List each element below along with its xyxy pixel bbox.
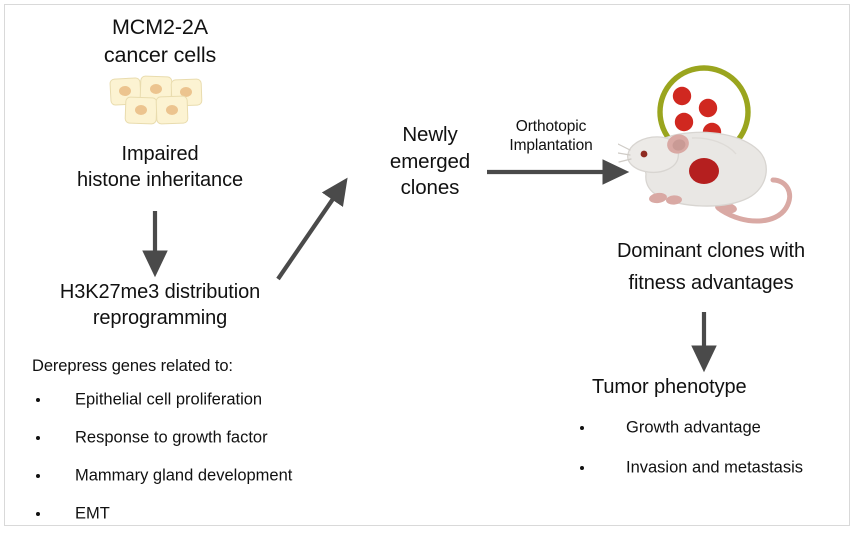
clone-dot xyxy=(675,113,693,131)
bullet-icon xyxy=(36,512,40,516)
figure-canvas: MCM2-2A cancer cells Impaired histone in… xyxy=(0,0,856,532)
derepressed-gene-list: Epithelial cell proliferation Response t… xyxy=(36,381,336,533)
list-item: Epithelial cell proliferation xyxy=(36,381,336,419)
laboratory-mouse-icon xyxy=(618,132,790,221)
clone-dot xyxy=(673,87,691,105)
page-title: MCM2-2A cancer cells xyxy=(30,14,290,69)
list-item: Mammary gland development xyxy=(36,457,336,495)
orthotopic-implantation-label: Orthotopic Implantation xyxy=(488,118,614,156)
tumor-phenotype-list: Growth advantage Invasion and metastasis xyxy=(580,408,845,488)
tumor-marker xyxy=(689,158,719,184)
list-item: Growth advantage xyxy=(580,408,845,448)
bullet-icon xyxy=(36,398,40,402)
mouse-with-tumor-illustration xyxy=(618,58,848,238)
h3k27me3-reprogramming-label: H3K27me3 distribution reprogramming xyxy=(10,280,310,331)
clone-dot xyxy=(699,99,717,117)
newly-emerged-clones-label: Newly emerged clones xyxy=(372,122,488,202)
dominant-clones-label: Dominant clones with fitness advantages xyxy=(580,235,842,300)
impaired-histone-inheritance-label: Impaired histone inheritance xyxy=(20,142,300,193)
bullet-icon xyxy=(580,466,584,470)
list-item: EMT xyxy=(36,495,336,533)
cancer-cell-cluster-icon xyxy=(110,76,202,122)
derepress-genes-label: Derepress genes related to: xyxy=(32,356,332,377)
bullet-icon xyxy=(36,474,40,478)
list-item: Response to growth factor xyxy=(36,419,336,457)
list-item: Invasion and metastasis xyxy=(580,448,845,488)
bullet-icon xyxy=(36,436,40,440)
tumor-phenotype-label: Tumor phenotype xyxy=(592,375,822,401)
bullet-icon xyxy=(580,426,584,430)
